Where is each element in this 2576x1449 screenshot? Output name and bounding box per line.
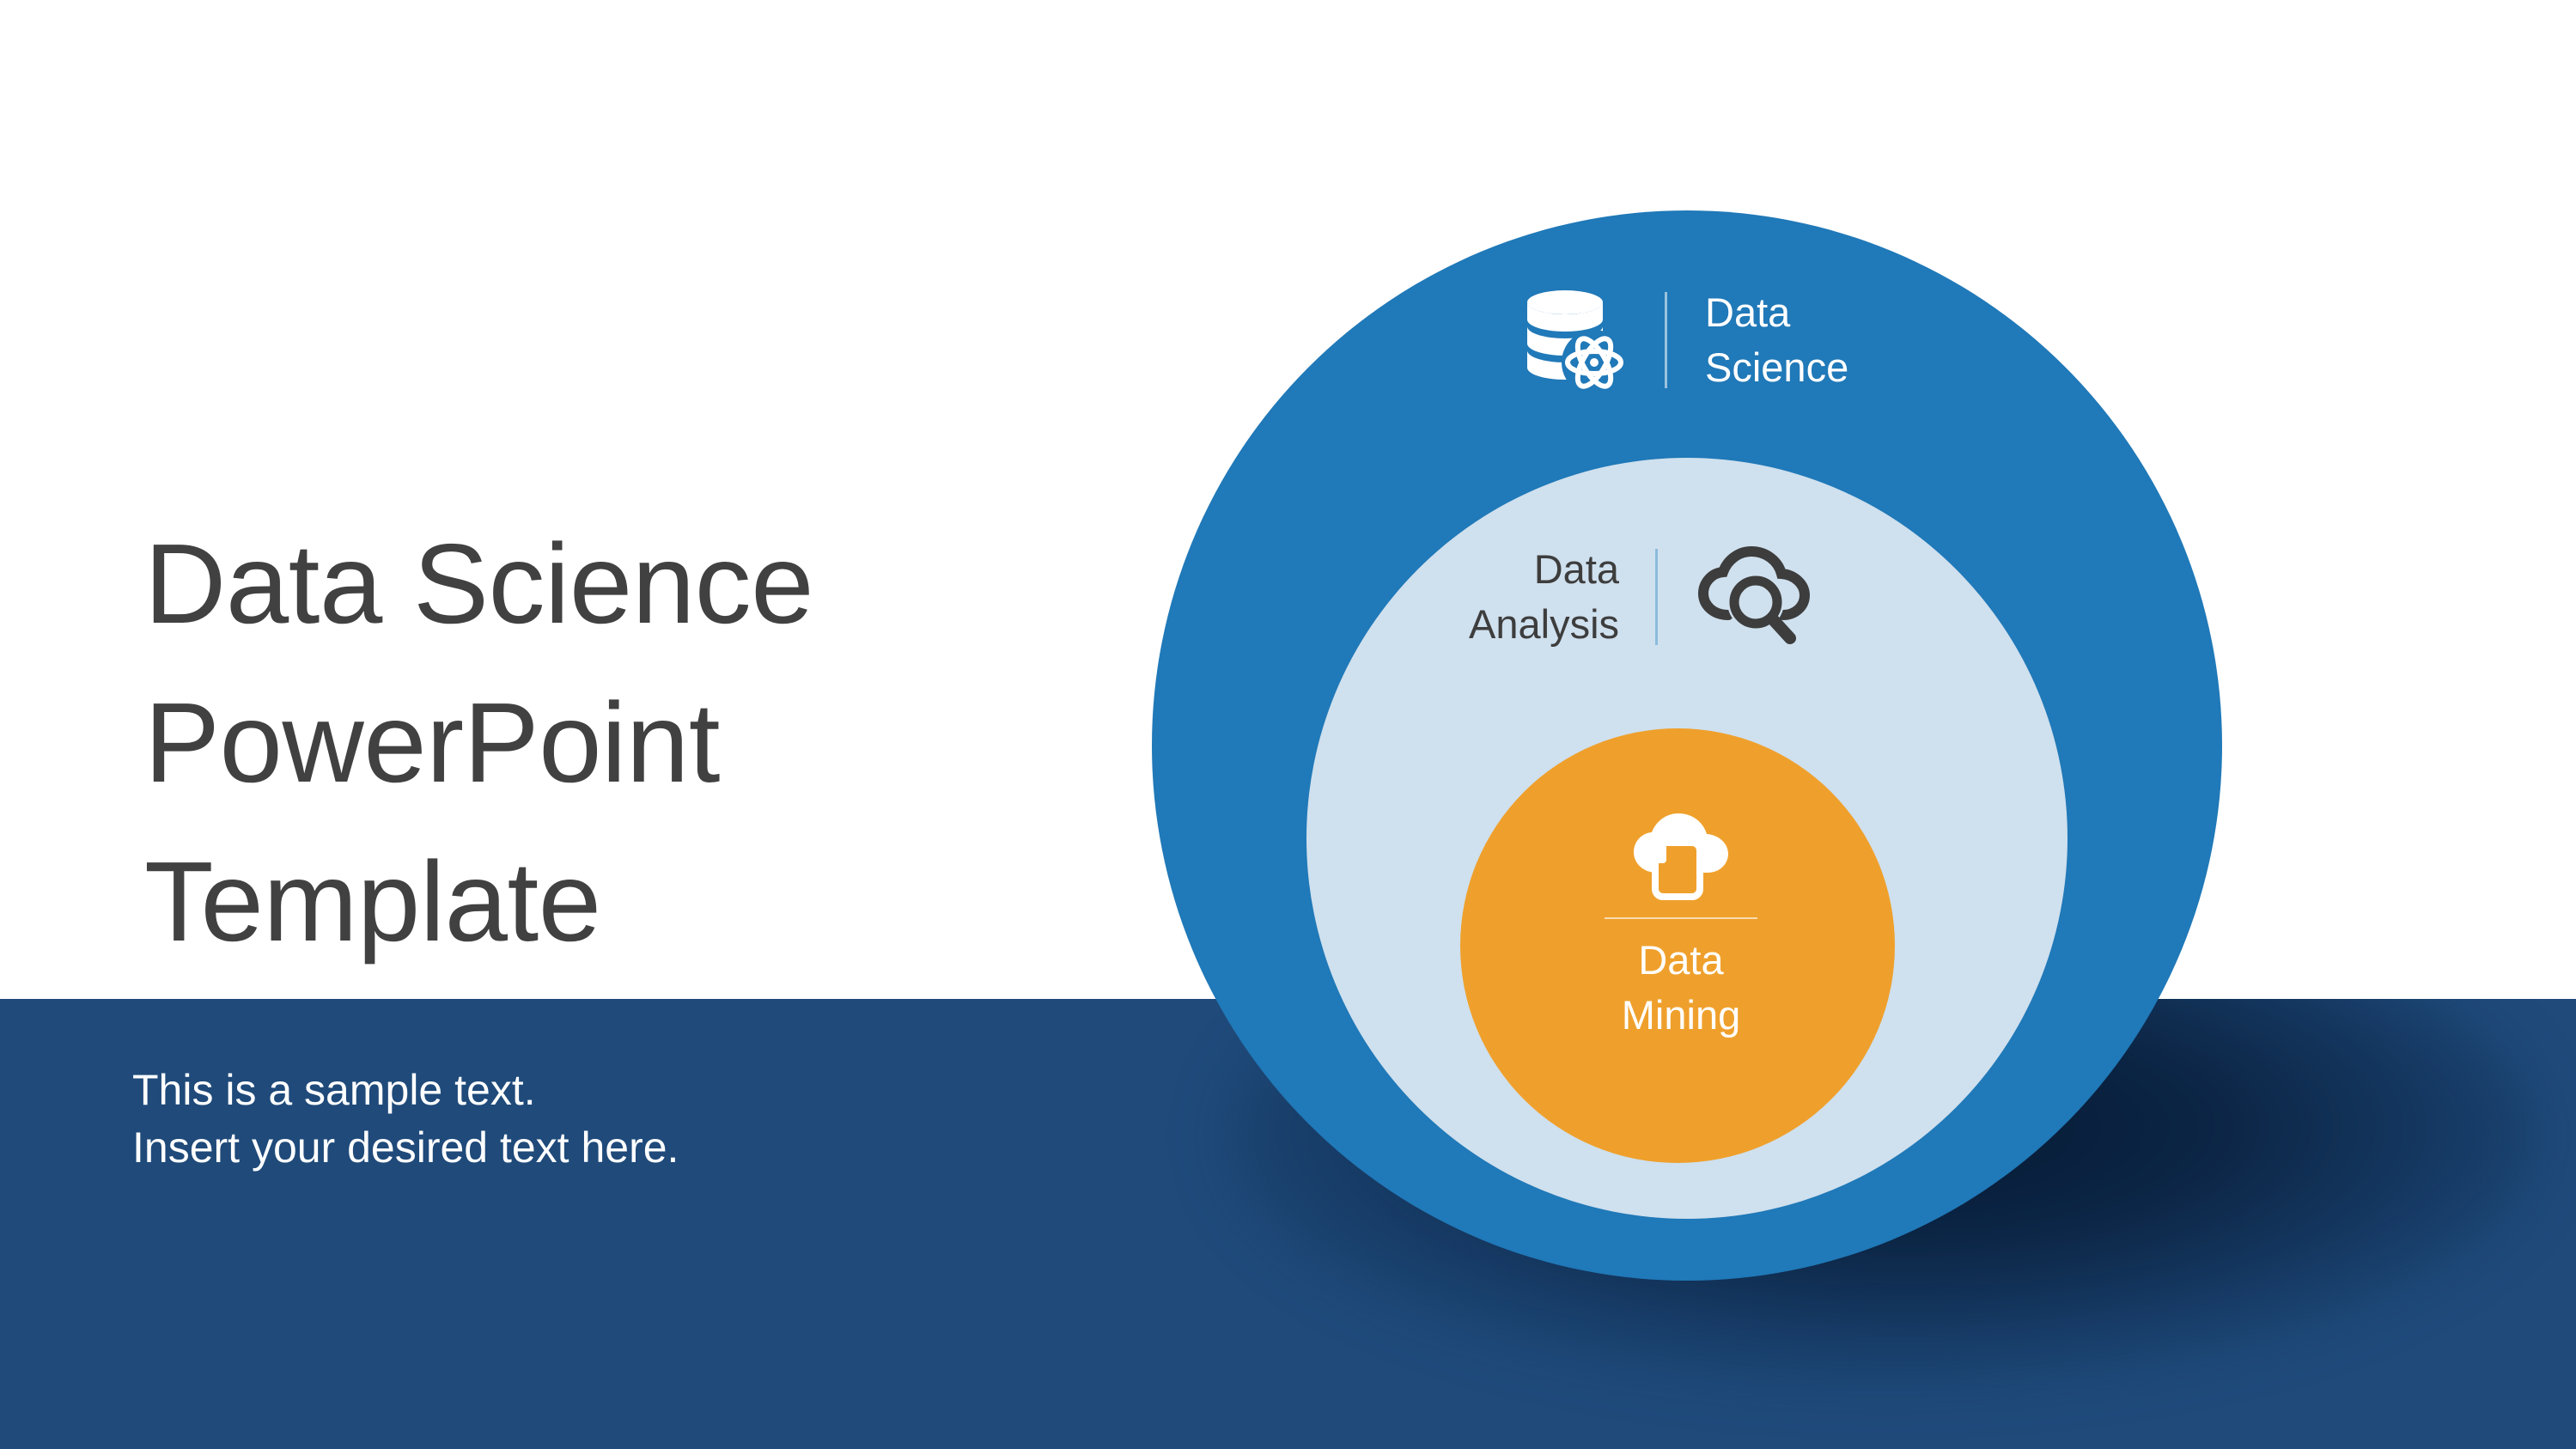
- level-label-data-analysis: Data Analysis: [1469, 542, 1619, 652]
- subtitle-block: This is a sample text. Insert your desir…: [132, 1062, 1077, 1177]
- mining-divider: [1605, 917, 1757, 919]
- level-row-data-mining[interactable]: Data Mining: [1599, 806, 1763, 1043]
- level-row-data-analysis[interactable]: Data Analysis: [1469, 541, 1816, 653]
- cloud-search-icon: [1696, 541, 1816, 653]
- page-title: Data Science PowerPoint Template: [144, 505, 1158, 981]
- level-label-data-mining: Data Mining: [1622, 933, 1740, 1043]
- database-atom-icon: [1520, 283, 1634, 397]
- science-divider: [1665, 292, 1667, 388]
- slide-canvas: Data Science PowerPoint Template This is…: [0, 0, 2576, 1449]
- level-label-data-science: Data Science: [1705, 285, 1848, 395]
- subtitle-line-1: This is a sample text.: [132, 1062, 1077, 1119]
- level-row-data-science[interactable]: Data Science: [1520, 283, 1848, 397]
- cloud-document-icon: [1629, 806, 1733, 898]
- analysis-divider: [1655, 549, 1658, 645]
- subtitle-line-2: Insert your desired text here.: [132, 1119, 1077, 1177]
